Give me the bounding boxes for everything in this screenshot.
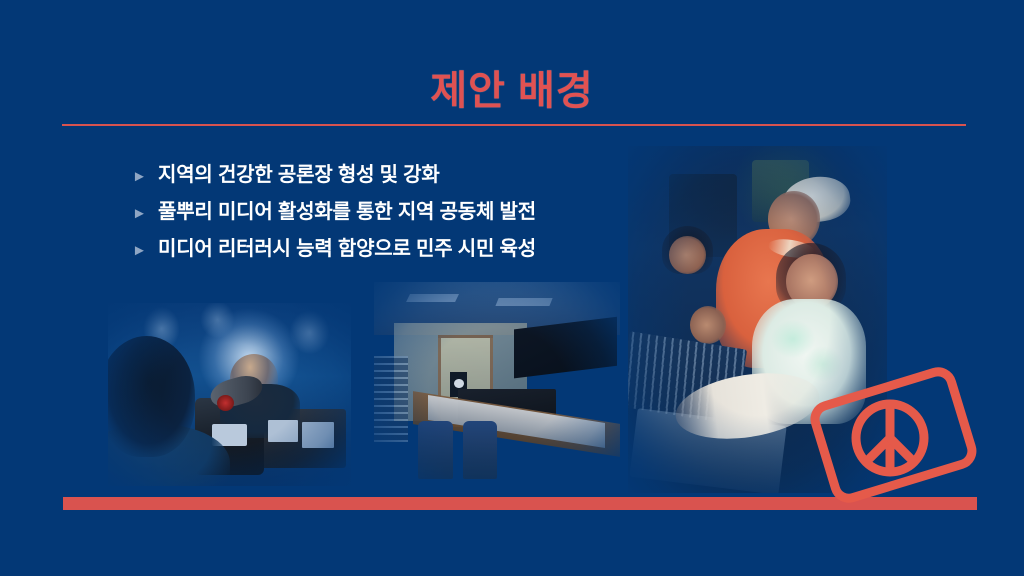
photo-broadcast-control-room (374, 282, 620, 487)
photo-2-chair-a (418, 421, 452, 478)
photo-1-monitor-screen-b (302, 422, 334, 448)
bullet-text: 풀뿌리 미디어 활성화를 통한 지역 공동체 발전 (158, 195, 536, 224)
triangle-bullet-icon: ► (132, 243, 158, 258)
peace-badge-svg (800, 362, 980, 512)
peace-badge-logo (800, 362, 980, 512)
bullet-list: ► 지역의 건강한 공론장 형성 및 강화 ► 풀뿌리 미디어 활성화를 통한 … (132, 158, 652, 269)
title-underline (62, 124, 966, 126)
photo-3-child-face-left (690, 306, 726, 344)
triangle-bullet-icon: ► (132, 206, 158, 221)
list-item: ► 지역의 건강한 공론장 형성 및 강화 (132, 158, 652, 195)
photo-1-scene (108, 303, 351, 486)
photo-2-scene (374, 282, 620, 487)
photo-3-back-person-face (669, 236, 705, 274)
photo-1-foreground-head (108, 336, 195, 457)
bullet-text: 미디어 리터러시 능력 함양으로 민주 시민 육성 (158, 232, 536, 261)
list-item: ► 미디어 리터러시 능력 함양으로 민주 시민 육성 (132, 232, 652, 269)
peace-symbol-icon (856, 404, 924, 472)
list-item: ► 풀뿌리 미디어 활성화를 통한 지역 공동체 발전 (132, 195, 652, 232)
photo-2-ceiling-light-a (406, 294, 459, 302)
slide-root: 제안 배경 ► 지역의 건강한 공론장 형성 및 강화 ► 풀뿌리 미디어 활성… (0, 0, 1024, 576)
photo-2-chair-b (463, 421, 497, 478)
photo-2-ceiling-light-b (495, 298, 552, 306)
photo-1-monitor-screen-a (268, 420, 297, 442)
photo-2-equipment-rack (374, 356, 408, 442)
bullet-text: 지역의 건강한 공론장 형성 및 강화 (158, 158, 440, 187)
triangle-bullet-icon: ► (132, 169, 158, 184)
photo-video-studio-shoot (108, 303, 351, 486)
page-title: 제안 배경 (0, 58, 1024, 116)
